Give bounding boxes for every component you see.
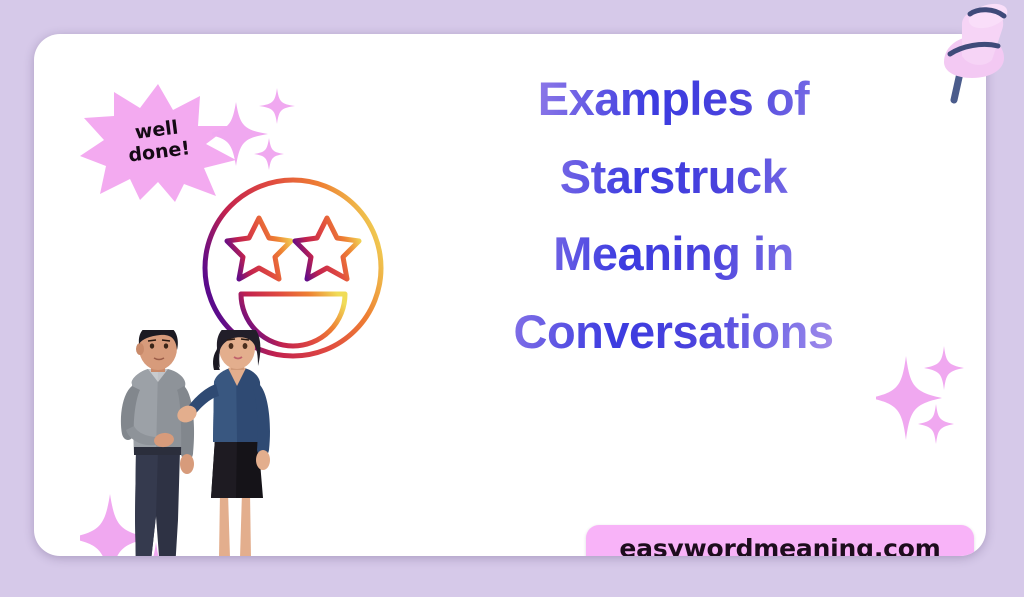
poster-card: Examples of Starstruck Meaning in Conver… [34,34,986,556]
sparkle-bottom-right [876,342,980,448]
site-url-label: easywordmeaning.com [619,534,940,556]
poster-canvas: Examples of Starstruck Meaning in Conver… [0,0,1024,597]
sparkle-group-icon [876,342,980,448]
pushpin-icon [932,0,1024,104]
sparkle-group-icon [212,80,298,184]
sparkle-top-left [212,80,298,184]
two-people-illustration [92,330,302,556]
people-conversation-icon [92,330,302,556]
site-url-badge[interactable]: easywordmeaning.com [586,525,974,556]
badge-line-2: done! [127,138,191,167]
page-title: Examples of Starstruck Meaning in Conver… [446,60,901,370]
pushpin-glyph [932,0,1024,104]
